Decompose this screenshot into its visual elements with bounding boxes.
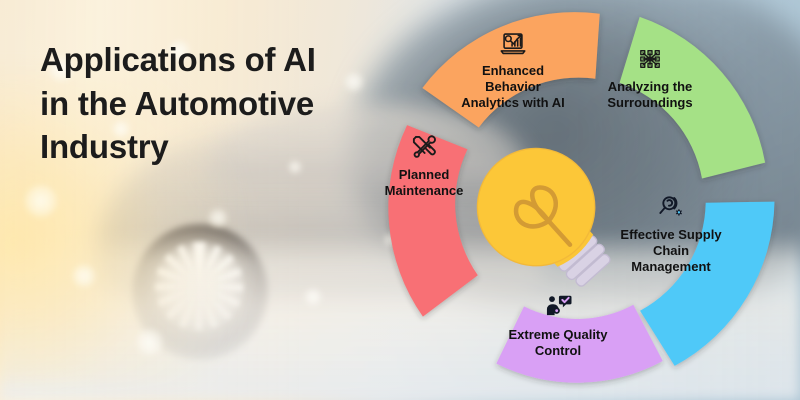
page-title: Applications of AI in the Automotive Ind… (40, 38, 380, 169)
pie-slice-enhanced-behavior-analytics[interactable] (416, 0, 615, 157)
page-title-line-3: Industry (40, 125, 380, 169)
pie-slice-analyzing-the-surroundings[interactable] (620, 17, 766, 179)
applications-pie-chart: Planned Maintenance Enhanced Behavior An… (370, 0, 790, 400)
infographic-canvas: Applications of AI in the Automotive Ind… (0, 0, 800, 400)
page-title-line-1: Applications of AI (40, 38, 380, 82)
page-title-line-2: in the Automotive (40, 82, 380, 126)
